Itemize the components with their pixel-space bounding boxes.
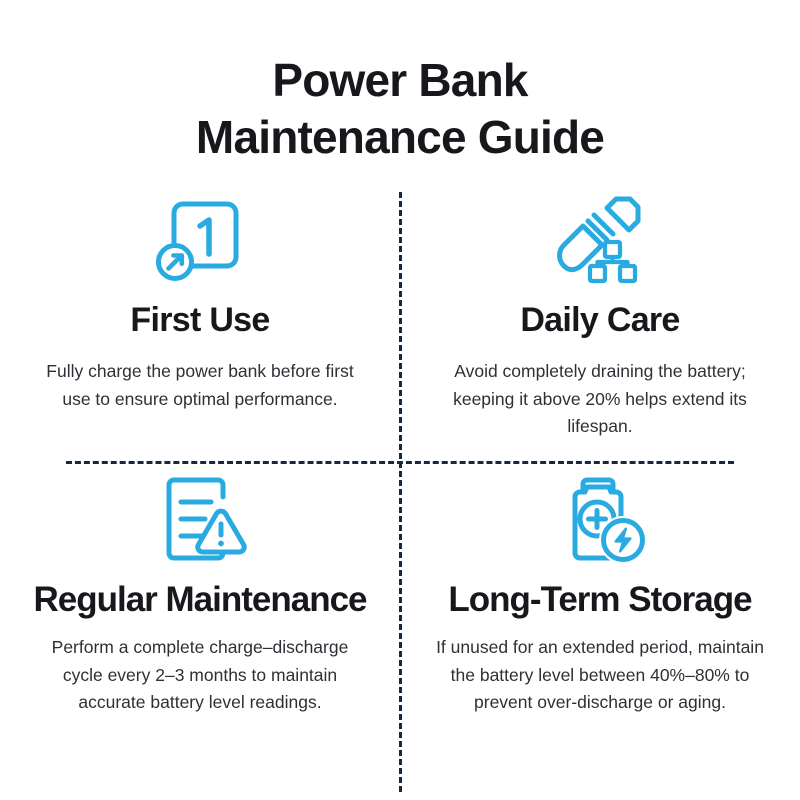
card-body: If unused for an extended period, mainta… bbox=[435, 634, 765, 717]
page-title: Power Bank Maintenance Guide bbox=[0, 52, 800, 166]
infographic-poster: Power Bank Maintenance Guide First Use F… bbox=[0, 0, 800, 800]
document-warning-icon bbox=[151, 474, 249, 570]
card-heading: First Use bbox=[130, 300, 269, 340]
card-long-term-storage: Long-Term Storage If unused for an exten… bbox=[400, 458, 800, 800]
page-title-line-2: Maintenance Guide bbox=[0, 109, 800, 166]
card-body: Avoid completely draining the battery; k… bbox=[440, 358, 760, 441]
card-body: Fully charge the power bank before first… bbox=[40, 358, 360, 413]
numbered-square-arrow-icon bbox=[152, 194, 248, 290]
card-heading: Daily Care bbox=[520, 300, 679, 340]
card-heading: Long-Term Storage bbox=[448, 580, 751, 620]
page-title-line-1: Power Bank bbox=[0, 52, 800, 109]
screwdriver-settings-icon bbox=[550, 194, 650, 290]
card-body: Perform a complete charge–discharge cycl… bbox=[35, 634, 365, 717]
card-regular-maintenance: Regular Maintenance Perform a complete c… bbox=[0, 458, 400, 800]
card-heading: Regular Maintenance bbox=[33, 580, 366, 620]
cards-grid: First Use Fully charge the power bank be… bbox=[0, 186, 800, 800]
card-first-use: First Use Fully charge the power bank be… bbox=[0, 186, 400, 458]
card-daily-care: Daily Care Avoid completely draining the… bbox=[400, 186, 800, 458]
battery-plus-bolt-icon bbox=[551, 474, 649, 570]
